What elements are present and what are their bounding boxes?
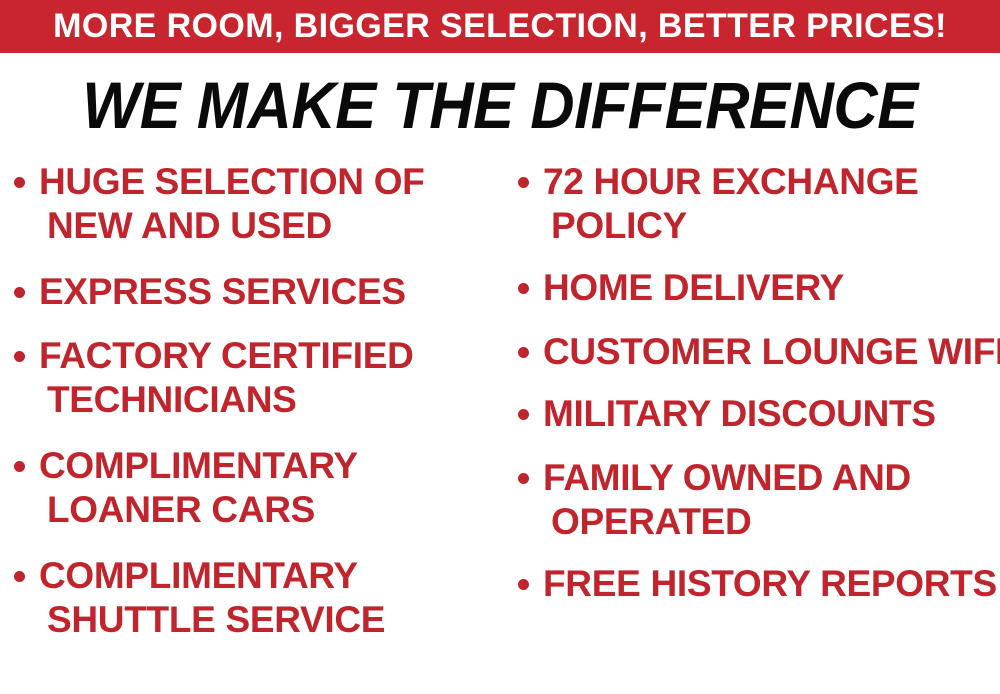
benefits-column-left: HUGE SELECTION OF NEW AND USED EXPRESS S…	[14, 160, 514, 668]
list-item-label: EXPRESS SERVICES	[39, 270, 514, 314]
promotional-banner-ad: MORE ROOM, BIGGER SELECTION, BETTER PRIC…	[0, 0, 1000, 694]
bullet-dot-icon	[14, 287, 25, 298]
list-item-label: FACTORY CERTIFIED TECHNICIANS	[39, 334, 514, 422]
list-item: COMPLIMENTARY LOANER CARS	[14, 444, 514, 532]
bullet-dot-icon	[518, 347, 529, 358]
list-item-label: CUSTOMER LOUNGE WIFI	[543, 330, 1000, 374]
bullet-dot-icon	[14, 351, 25, 362]
bullet-dot-icon	[518, 579, 529, 590]
list-item: CUSTOMER LOUNGE WIFI	[518, 330, 1000, 374]
list-item: HUGE SELECTION OF NEW AND USED	[14, 160, 514, 248]
list-item-label: FAMILY OWNED AND OPERATED	[543, 456, 1000, 544]
list-item-label: HOME DELIVERY	[543, 266, 1000, 310]
list-item-label: MILITARY DISCOUNTS	[543, 392, 1000, 436]
list-item: HOME DELIVERY	[518, 266, 1000, 310]
benefits-column-right: 72 HOUR EXCHANGE POLICY HOME DELIVERY CU…	[518, 160, 1000, 632]
list-item: COMPLIMENTARY SHUTTLE SERVICE	[14, 554, 514, 642]
top-banner: MORE ROOM, BIGGER SELECTION, BETTER PRIC…	[0, 0, 1000, 53]
bullet-dot-icon	[14, 571, 25, 582]
list-item-label: HUGE SELECTION OF NEW AND USED	[39, 160, 514, 248]
list-item: FACTORY CERTIFIED TECHNICIANS	[14, 334, 514, 422]
benefits-columns: HUGE SELECTION OF NEW AND USED EXPRESS S…	[0, 160, 1000, 694]
bullet-dot-icon	[518, 409, 529, 420]
bullet-dot-icon	[14, 177, 25, 188]
list-item: EXPRESS SERVICES	[14, 270, 514, 314]
list-item-label: FREE HISTORY REPORTS	[543, 562, 1000, 606]
list-item: 72 HOUR EXCHANGE POLICY	[518, 160, 1000, 248]
bullet-dot-icon	[518, 177, 529, 188]
list-item: FAMILY OWNED AND OPERATED	[518, 456, 1000, 544]
banner-headline-text: MORE ROOM, BIGGER SELECTION, BETTER PRIC…	[0, 9, 1000, 45]
list-item-label: 72 HOUR EXCHANGE POLICY	[543, 160, 1000, 248]
page-title: WE MAKE THE DIFFERENCE	[35, 72, 965, 138]
bullet-dot-icon	[14, 461, 25, 472]
list-item: FREE HISTORY REPORTS	[518, 562, 1000, 606]
list-item: MILITARY DISCOUNTS	[518, 392, 1000, 436]
bullet-dot-icon	[518, 283, 529, 294]
list-item-label: COMPLIMENTARY LOANER CARS	[39, 444, 514, 532]
bullet-dot-icon	[518, 473, 529, 484]
list-item-label: COMPLIMENTARY SHUTTLE SERVICE	[39, 554, 514, 642]
